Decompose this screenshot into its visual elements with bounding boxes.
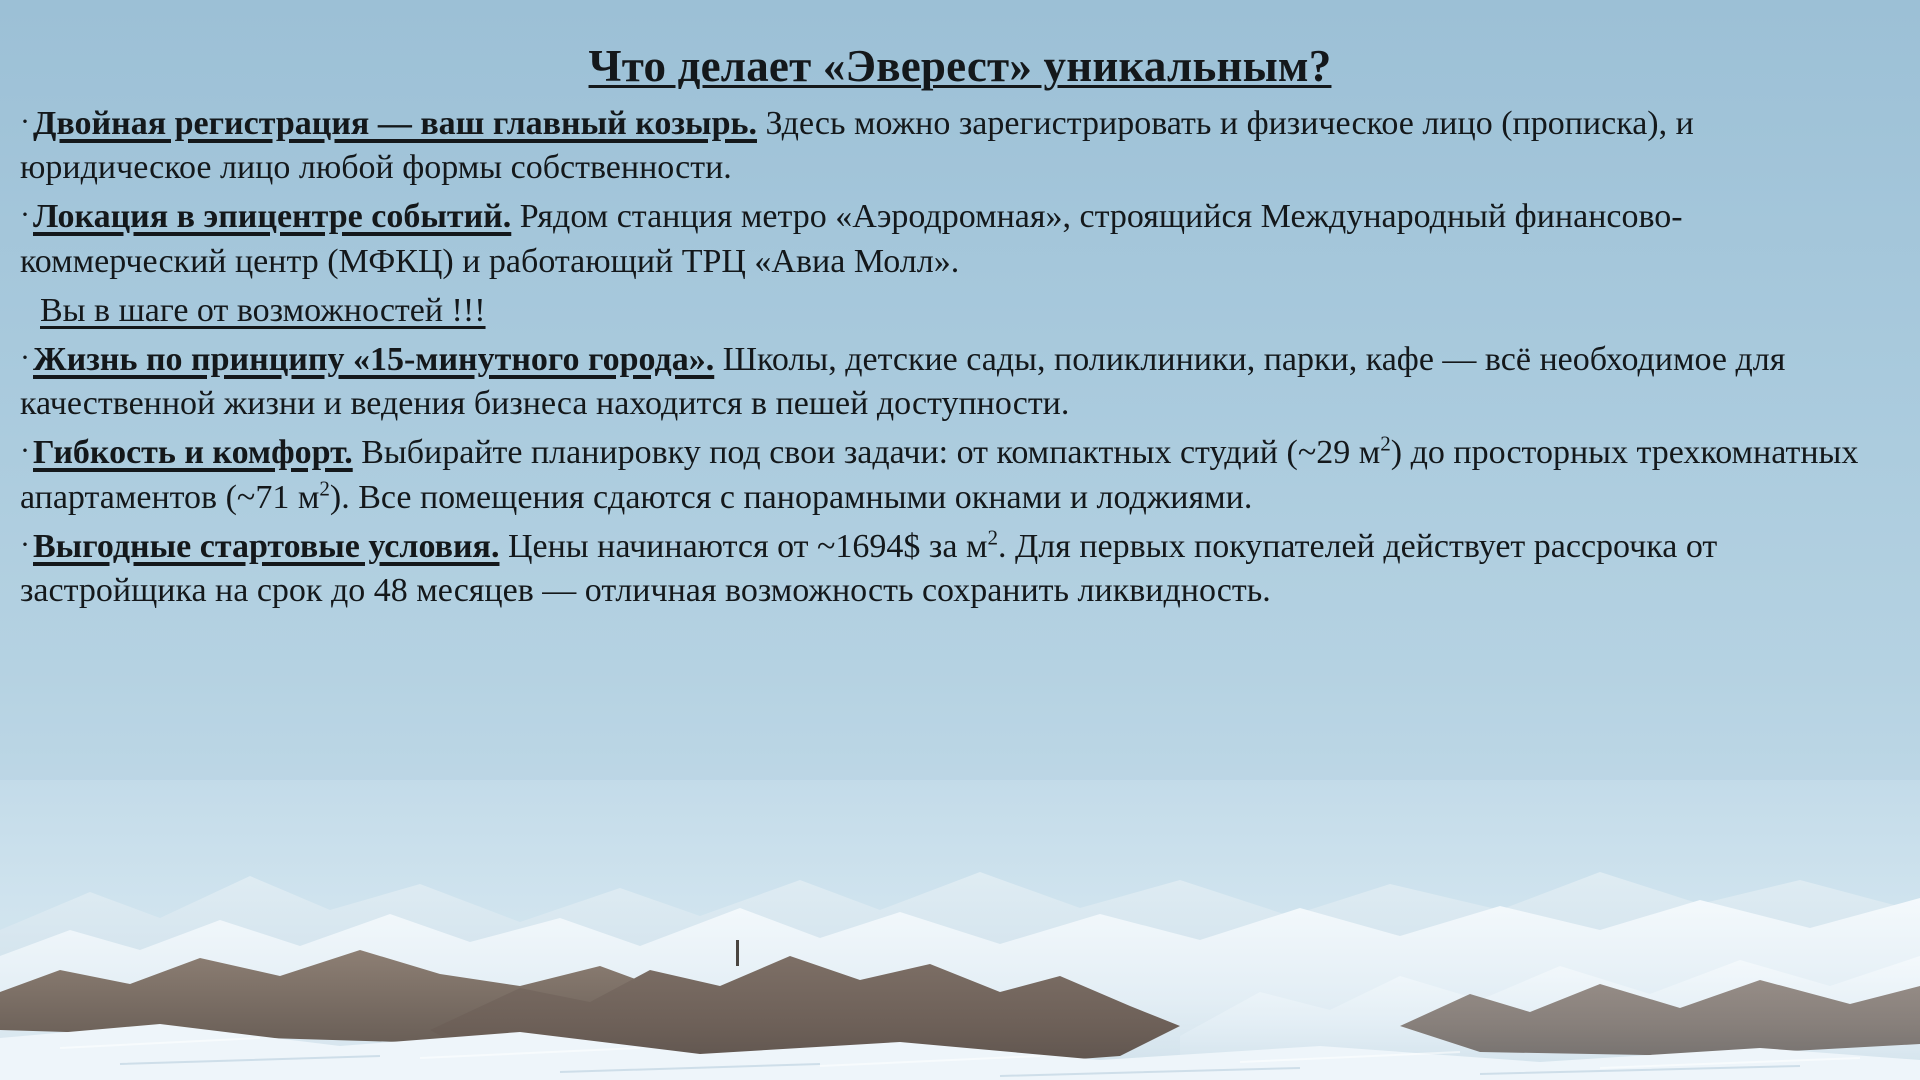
presentation-slide: Что делает «Эверест» уникальным? ·Двойна… bbox=[0, 0, 1920, 1080]
square-meter-superscript: 2 bbox=[319, 476, 330, 500]
standalone-emphasis-text: Вы в шаге от возможностей !!! bbox=[40, 292, 486, 329]
bullet-body-pre: Цены начинаются от ~1694$ за м bbox=[499, 528, 987, 565]
bullet-item-fifteen-minute-city: ·Жизнь по принципу «15-минутного города»… bbox=[20, 338, 1886, 426]
mountain-ridge bbox=[0, 780, 1920, 1080]
bullet-glyph: · bbox=[20, 105, 33, 138]
bullet-lead: Выгодные стартовые условия. bbox=[33, 528, 499, 565]
bullet-lead: Локация в эпицентре событий. bbox=[33, 198, 511, 235]
bullet-glyph: · bbox=[20, 434, 33, 467]
bullet-list: ·Двойная регистрация — ваш главный козыр… bbox=[0, 102, 1920, 613]
bullet-lead: Жизнь по принципу «15-минутного города». bbox=[33, 341, 714, 378]
bullet-glyph: · bbox=[20, 528, 33, 561]
page-title: Что делает «Эверест» уникальным? bbox=[0, 40, 1920, 92]
standalone-emphasis-line: Вы в шаге от возможностей !!! bbox=[20, 289, 1886, 333]
bullet-glyph: · bbox=[20, 198, 33, 231]
bullet-lead: Двойная регистрация — ваш главный козырь… bbox=[33, 105, 757, 142]
bullet-body-pre: Выбирайте планировку под свои задачи: от… bbox=[353, 434, 1381, 471]
square-meter-superscript: 2 bbox=[987, 525, 998, 549]
page-title-text: Что делает «Эверест» уникальным? bbox=[589, 41, 1332, 91]
bullet-glyph: · bbox=[20, 341, 33, 374]
bullet-body-post: ). Все помещения сдаются с панорамными о… bbox=[330, 479, 1252, 516]
bullet-item-dual-registration: ·Двойная регистрация — ваш главный козыр… bbox=[20, 102, 1886, 190]
bullet-item-flexibility-comfort: ·Гибкость и комфорт. Выбирайте планировк… bbox=[20, 431, 1886, 519]
square-meter-superscript: 2 bbox=[1380, 432, 1391, 456]
bullet-item-location: ·Локация в эпицентре событий. Рядом стан… bbox=[20, 195, 1886, 283]
bullet-item-starting-conditions: ·Выгодные стартовые условия. Цены начина… bbox=[20, 525, 1886, 613]
mountain-photo bbox=[0, 780, 1920, 1080]
bullet-lead: Гибкость и комфорт. bbox=[33, 434, 353, 471]
slide-content: Что делает «Эверест» уникальным? ·Двойна… bbox=[0, 0, 1920, 618]
